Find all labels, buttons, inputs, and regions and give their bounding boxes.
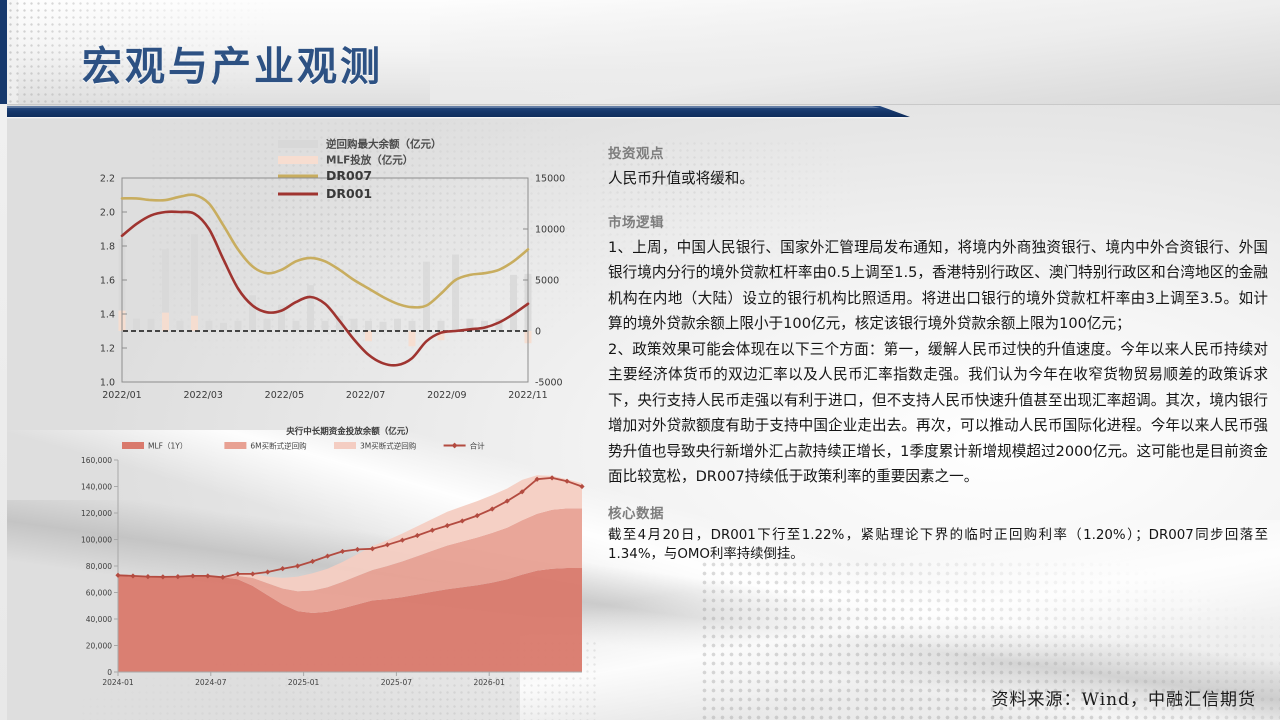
- section-body: 截至4月20日，DR001下行至1.22%，紧贴理论下界的临时正回购利率（1.2…: [608, 526, 1268, 564]
- chart-cb-funding-legend: MLF（1Y）6M买断式逆回购3M买断式逆回购合计: [122, 441, 485, 451]
- svg-text:160,000: 160,000: [81, 456, 112, 465]
- svg-text:2025-01: 2025-01: [288, 678, 320, 687]
- svg-text:2024-07: 2024-07: [195, 678, 227, 687]
- svg-text:0: 0: [535, 326, 541, 337]
- section-investment-view: 投资观点 人民币升值或将缓和。: [608, 142, 1268, 192]
- svg-text:100,000: 100,000: [81, 535, 112, 544]
- section-body: 1、上周，中国人民银行、国家外汇管理局发布通知，将境内外商独资银行、境内中外合资…: [608, 235, 1268, 490]
- section-heading: 市场逻辑: [608, 211, 1268, 231]
- svg-text:120,000: 120,000: [81, 509, 112, 518]
- svg-text:2025-07: 2025-07: [381, 678, 413, 687]
- section-heading: 核心数据: [608, 502, 1268, 522]
- chart-rates-liquidity-svg: 2.22.01.81.61.41.21.0150001000050000-500…: [60, 132, 590, 417]
- svg-text:2022/05: 2022/05: [265, 390, 304, 401]
- svg-text:1.2: 1.2: [100, 343, 115, 354]
- svg-text:2022/03: 2022/03: [183, 390, 222, 401]
- svg-text:DR001: DR001: [326, 186, 372, 201]
- svg-text:6M买断式逆回购: 6M买断式逆回购: [250, 441, 306, 451]
- svg-text:1.0: 1.0: [100, 377, 115, 388]
- svg-text:2024-01: 2024-01: [102, 678, 134, 687]
- analysis-text-column: 投资观点 人民币升值或将缓和。 市场逻辑 1、上周，中国人民银行、国家外汇管理局…: [608, 142, 1268, 687]
- section-core-data: 核心数据 截至4月20日，DR001下行至1.22%，紧贴理论下界的临时正回购利…: [608, 502, 1268, 564]
- svg-text:-5000: -5000: [535, 377, 563, 388]
- header-rule: [0, 104, 1280, 105]
- svg-text:MLF（1Y）: MLF（1Y）: [148, 442, 187, 451]
- svg-text:合计: 合计: [470, 441, 485, 451]
- section-heading: 投资观点: [608, 142, 1268, 162]
- slide-root: 宏观与产业观测 2.22.01.81.61.41.21.015000100005…: [0, 0, 1280, 720]
- svg-text:1.6: 1.6: [100, 275, 115, 286]
- svg-text:20,000: 20,000: [86, 641, 112, 650]
- chart-rates-legend: 逆回购最大余额（亿元）MLF投放（亿元）DR007DR001: [278, 138, 442, 202]
- header-accent-bar-highlight: [0, 106, 880, 108]
- chart-rates-liquidity: 2.22.01.81.61.41.21.0150001000050000-500…: [60, 132, 590, 417]
- svg-text:10000: 10000: [535, 224, 565, 235]
- svg-text:0: 0: [107, 668, 112, 677]
- svg-text:2022/07: 2022/07: [346, 390, 385, 401]
- svg-text:逆回购最大余额（亿元）: 逆回购最大余额（亿元）: [326, 138, 442, 151]
- chart-cb-funding-svg: 020,00040,00060,00080,000100,000120,0001…: [60, 422, 590, 707]
- svg-text:80,000: 80,000: [86, 562, 112, 571]
- svg-text:5000: 5000: [535, 275, 559, 286]
- svg-text:140,000: 140,000: [81, 482, 112, 491]
- svg-text:40,000: 40,000: [86, 615, 112, 624]
- source-note: 资料来源：Wind，中融汇信期货: [992, 685, 1256, 710]
- page-title: 宏观与产业观测: [82, 34, 383, 92]
- slide-header: 宏观与产业观测: [0, 0, 1280, 122]
- svg-text:MLF投放（亿元）: MLF投放（亿元）: [326, 154, 413, 167]
- svg-text:2022/01: 2022/01: [102, 390, 141, 401]
- svg-text:1.8: 1.8: [100, 241, 115, 252]
- svg-text:2.0: 2.0: [100, 207, 115, 218]
- section-market-logic: 市场逻辑 1、上周，中国人民银行、国家外汇管理局发布通知，将境内外商独资银行、境…: [608, 211, 1268, 490]
- svg-text:2022/11: 2022/11: [508, 390, 547, 401]
- svg-text:2022/09: 2022/09: [427, 390, 466, 401]
- section-spacer: [608, 490, 1268, 502]
- header-accent-bar-edge: [0, 117, 910, 119]
- section-body: 人民币升值或将缓和。: [608, 166, 1268, 192]
- left-edge-strip: [0, 0, 7, 720]
- svg-text:DR007: DR007: [326, 168, 372, 183]
- charts-column: 2.22.01.81.61.41.21.0150001000050000-500…: [60, 132, 590, 707]
- svg-text:1.4: 1.4: [100, 309, 115, 320]
- svg-text:3M买断式逆回购: 3M买断式逆回购: [360, 441, 416, 451]
- svg-text:15000: 15000: [535, 173, 565, 184]
- svg-text:2026-01: 2026-01: [474, 678, 506, 687]
- svg-text:60,000: 60,000: [86, 588, 112, 597]
- header-sheen: [430, 0, 1280, 104]
- chart-cb-funding: 020,00040,00060,00080,000100,000120,0001…: [60, 422, 590, 707]
- svg-text:2.2: 2.2: [100, 173, 115, 184]
- chart-cb-funding-title: 央行中长期资金投放余额（亿元）: [286, 426, 414, 437]
- section-spacer: [608, 192, 1268, 211]
